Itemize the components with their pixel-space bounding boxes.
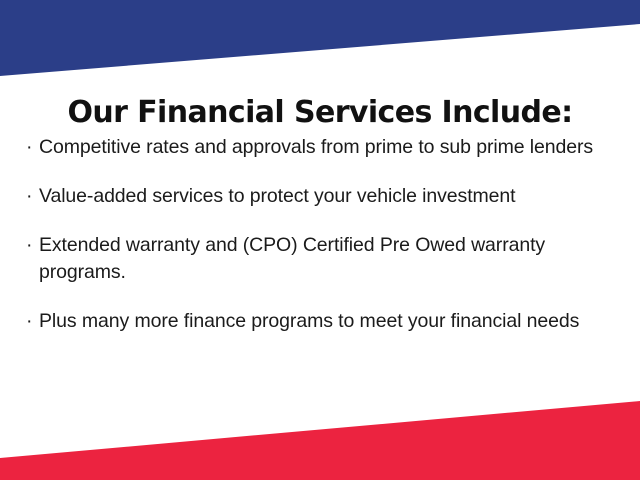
list-item: · Value-added services to protect your v…	[24, 183, 624, 210]
list-item: · Plus many more finance programs to mee…	[24, 308, 624, 335]
list-item-text: Competitive rates and approvals from pri…	[39, 134, 624, 161]
list-item-text: Extended warranty and (CPO) Certified Pr…	[39, 232, 624, 286]
bullet-dot-icon: ·	[26, 308, 32, 335]
top-blue-diagonal-band	[0, 0, 640, 76]
financial-services-list: · Competitive rates and approvals from p…	[24, 134, 624, 335]
bottom-red-diagonal-band	[0, 401, 640, 480]
page-title: Our Financial Services Include:	[0, 96, 640, 131]
bullet-dot-icon: ·	[26, 183, 32, 210]
slide-canvas: Our Financial Services Include: · Compet…	[0, 0, 640, 480]
list-item: · Extended warranty and (CPO) Certified …	[24, 232, 624, 286]
bullet-dot-icon: ·	[26, 232, 32, 259]
list-item-text: Plus many more finance programs to meet …	[39, 308, 624, 335]
list-item-text: Value-added services to protect your veh…	[39, 183, 624, 210]
list-item: · Competitive rates and approvals from p…	[24, 134, 624, 161]
bullet-dot-icon: ·	[26, 134, 32, 161]
